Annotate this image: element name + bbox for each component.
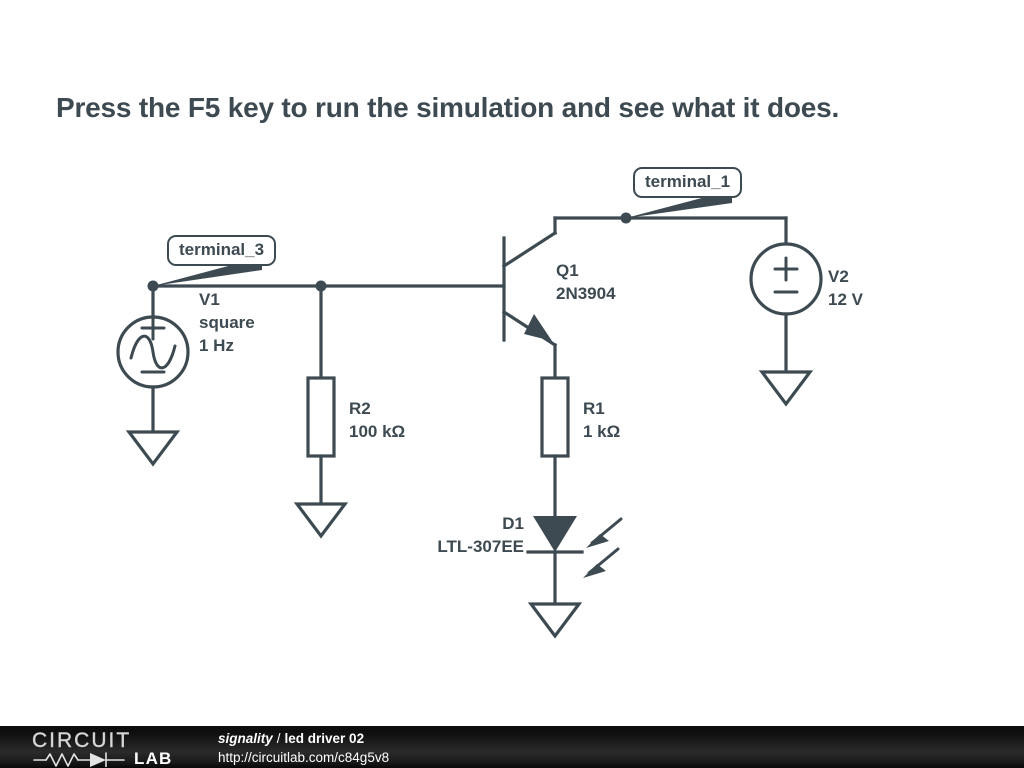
q1-designator: Q1 bbox=[556, 259, 616, 282]
component-d1-symbol[interactable] bbox=[528, 516, 621, 604]
footer-project-name: led driver 02 bbox=[285, 731, 365, 746]
component-label-r1[interactable]: R1 1 kΩ bbox=[583, 397, 620, 443]
ground-symbol-v1 bbox=[129, 432, 177, 464]
v1-designator: V1 bbox=[199, 288, 255, 311]
v1-frequency: 1 Hz bbox=[199, 334, 255, 357]
r1-value: 1 kΩ bbox=[583, 420, 620, 443]
circuitlab-logo[interactable]: CIRCUIT LAB bbox=[32, 729, 200, 767]
terminal-label-terminal_3[interactable]: terminal_3 bbox=[167, 235, 276, 266]
ground-symbol-v2 bbox=[762, 372, 810, 404]
component-label-r2[interactable]: R2 100 kΩ bbox=[349, 397, 405, 443]
logo-resistor-diode-icon bbox=[32, 751, 136, 767]
r2-value: 100 kΩ bbox=[349, 420, 405, 443]
component-label-v1[interactable]: V1 square 1 Hz bbox=[199, 288, 255, 357]
footer-username: signality bbox=[218, 731, 273, 746]
footer-project-info: signality/led driver 02 http://circuitla… bbox=[218, 730, 389, 767]
junction-dot-r2 bbox=[316, 281, 327, 292]
component-r2-symbol[interactable] bbox=[308, 378, 334, 504]
v1-waveform: square bbox=[199, 311, 255, 334]
d1-designator: D1 bbox=[300, 512, 524, 535]
component-v1-symbol[interactable] bbox=[118, 317, 188, 432]
footer-bar: CIRCUIT LAB signality/led driver 02 http… bbox=[0, 726, 1024, 768]
q1-part-number: 2N3904 bbox=[556, 282, 616, 305]
v2-designator: V2 bbox=[828, 265, 863, 288]
wire-supply-rail bbox=[555, 213, 786, 245]
footer-project-line: signality/led driver 02 bbox=[218, 730, 389, 748]
footer-url[interactable]: http://circuitlab.com/c84g5v8 bbox=[218, 749, 389, 767]
component-label-v2[interactable]: V2 12 V bbox=[828, 265, 863, 311]
led-light-arrows bbox=[583, 519, 621, 578]
screenshot-root: Press the F5 key to run the simulation a… bbox=[0, 0, 1024, 768]
logo-wordmark-lab: LAB bbox=[134, 749, 173, 768]
component-label-d1[interactable]: D1 LTL-307EE bbox=[300, 512, 524, 558]
schematic-canvas: .wire { stroke:#3d4a52; stroke-width:3.2… bbox=[0, 0, 1024, 768]
component-r1-symbol[interactable] bbox=[542, 378, 568, 516]
r1-designator: R1 bbox=[583, 397, 620, 420]
footer-separator: / bbox=[277, 731, 281, 746]
ground-symbol-d1 bbox=[531, 604, 579, 636]
component-label-q1[interactable]: Q1 2N3904 bbox=[556, 259, 616, 305]
component-v2-symbol[interactable] bbox=[751, 244, 821, 372]
v2-value: 12 V bbox=[828, 288, 863, 311]
component-q1-symbol[interactable] bbox=[504, 218, 555, 378]
r2-designator: R2 bbox=[349, 397, 405, 420]
terminal-label-terminal_1[interactable]: terminal_1 bbox=[633, 167, 742, 198]
logo-wordmark-circuit: CIRCUIT bbox=[32, 729, 131, 753]
d1-part-number: LTL-307EE bbox=[300, 535, 524, 558]
